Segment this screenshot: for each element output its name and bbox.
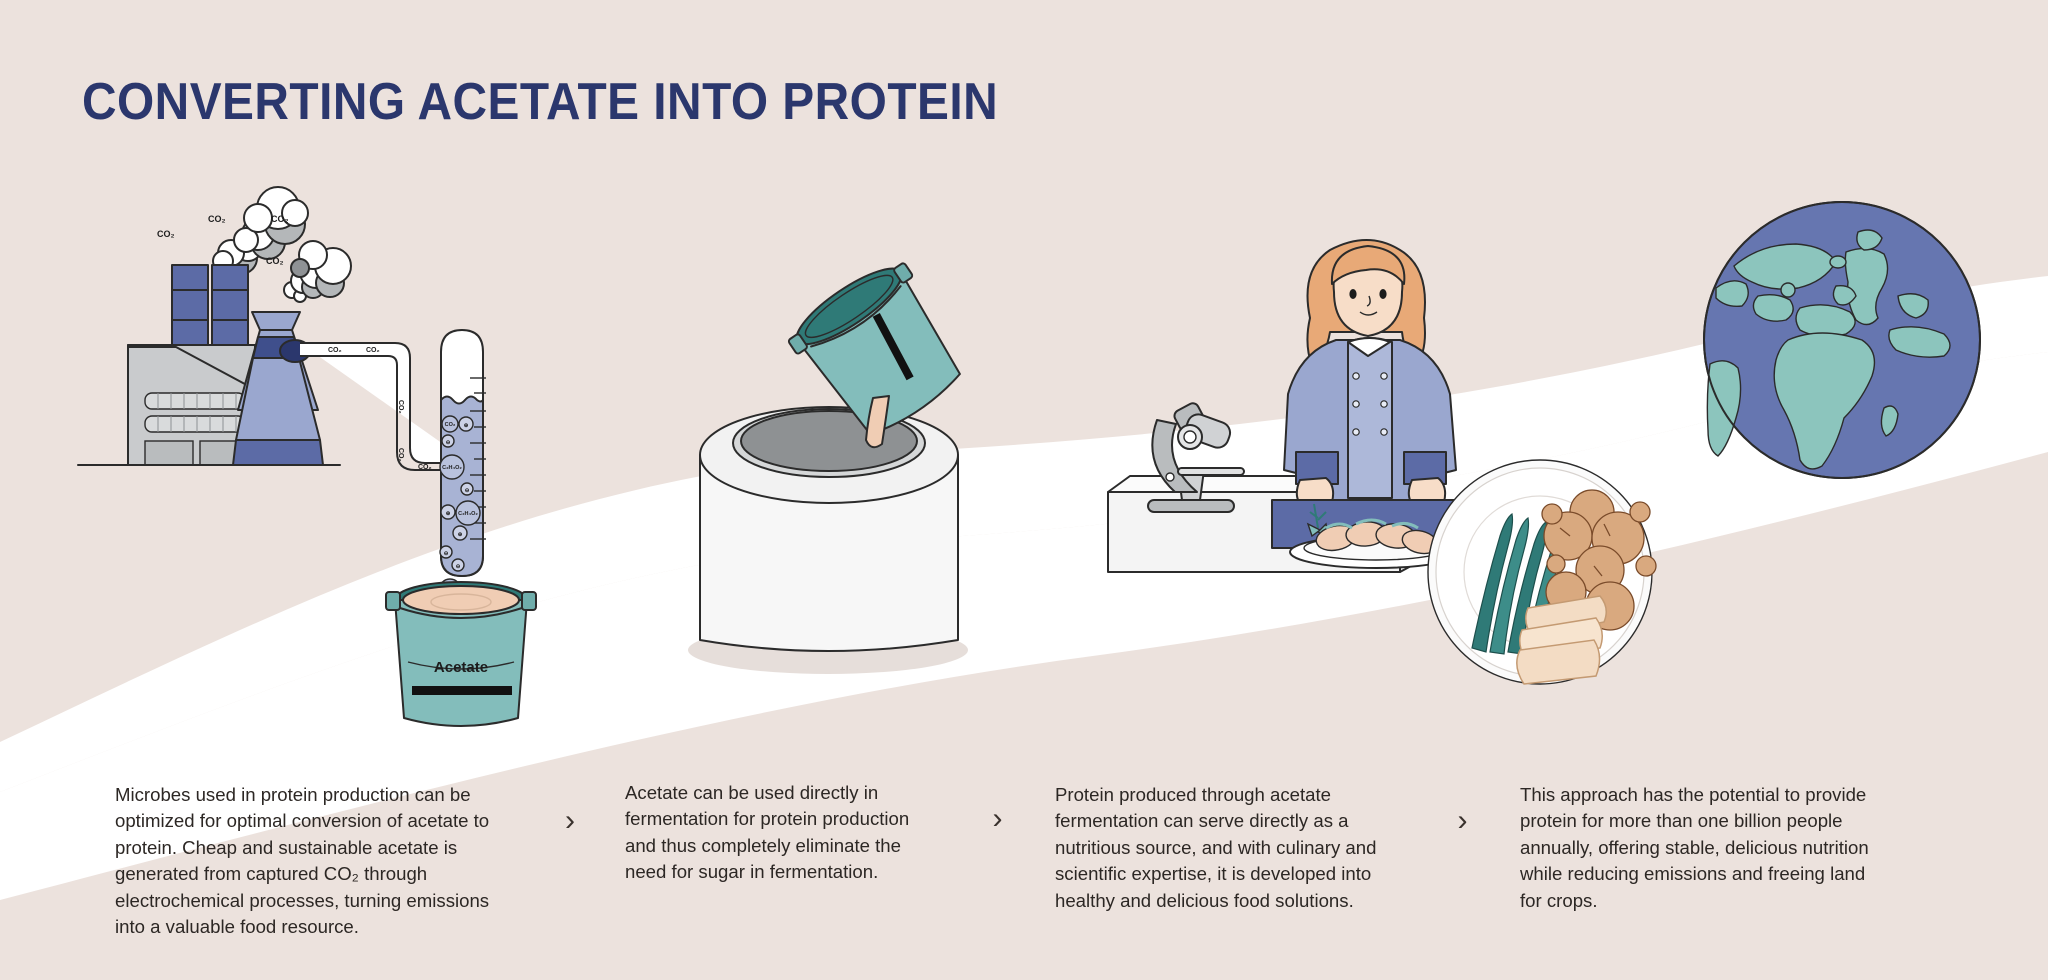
bread-slices (1517, 596, 1606, 684)
charge-negative: ⊖ (444, 551, 449, 557)
charge-negative: ⊖ (465, 488, 470, 494)
molecule-label: CO₂ (445, 422, 456, 428)
charge-positive: ⊕ (446, 511, 451, 517)
charge-positive: ⊕ (464, 423, 469, 429)
charge-negative: ⊖ (446, 440, 451, 446)
caption-step-4: This approach has the potential to provi… (1520, 782, 1880, 914)
infographic-canvas: .ol { stroke:#2b2b2b; stroke-width:2; st… (0, 0, 2048, 980)
caption-step-3: Protein produced through acetate ferment… (1055, 782, 1405, 914)
step-captions-row: Microbes used in protein production can … (0, 782, 2048, 940)
acetate-bucket-label: Acetate (434, 659, 488, 676)
factory-emissions-scene: CO₂ CO₂ CO₂ CO₂ (78, 187, 470, 471)
co2-label: CO₂ (366, 347, 380, 354)
co2-label: CO₂ (418, 464, 432, 471)
charge-positive: ⊕ (458, 532, 463, 538)
co2-label: CO₂ (397, 448, 404, 462)
charge-negative: ⊖ (456, 564, 461, 570)
molecule-label: C₂H₄O₂ (442, 465, 462, 471)
co2-label: CO₂ (328, 347, 342, 354)
chef-figure (1272, 240, 1472, 548)
globe-scene (1704, 202, 1980, 478)
caption-step-2: Acetate can be used directly in fermenta… (625, 780, 940, 886)
fermentation-tank (700, 407, 958, 651)
chef-laboratory-scene (1108, 240, 1656, 684)
chevron-right-icon: › (1405, 782, 1520, 836)
co2-label: CO₂ (266, 256, 284, 266)
earth-globe (1704, 202, 1980, 478)
co2-label: CO₂ (208, 214, 226, 224)
acetate-bucket: Acetate (386, 582, 536, 726)
co2-label: CO₂ (157, 229, 175, 239)
molecule-label: C₂H₄O₂ (458, 511, 478, 517)
fermentation-tank-scene (688, 252, 977, 674)
caption-step-1: Microbes used in protein production can … (115, 782, 515, 940)
chevron-right-icon: › (515, 782, 625, 836)
food-plate (1428, 460, 1656, 684)
co2-label: CO₂ (271, 214, 289, 224)
co2-label: CO₂ (397, 400, 404, 414)
chevron-right-icon: › (940, 782, 1055, 834)
page-title: CONVERTING ACETATE INTO PROTEIN (82, 72, 998, 132)
